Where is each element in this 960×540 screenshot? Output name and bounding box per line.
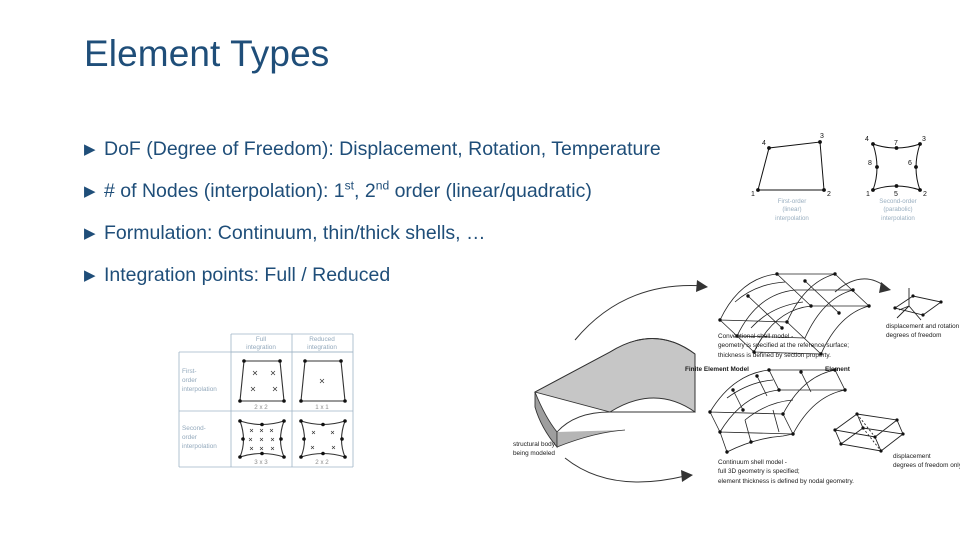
list-item: ▶ # of Nodes (interpolation): 1st, 2nd o… — [84, 180, 784, 222]
caption-second-order: Second-order (parabolic) interpolation — [858, 198, 938, 223]
first-order-quad-nodes — [756, 140, 826, 192]
arrow-to-continuum-mesh — [565, 458, 693, 482]
column-header-reduced-1: Reduced — [309, 336, 335, 343]
row-header-second-order-3: interpolation — [182, 443, 217, 450]
bullet-text-formulation: Formulation: Continuum, thin/thick shell… — [104, 222, 784, 245]
arrow-to-conventional-element — [835, 279, 891, 293]
header-finite-element-model: Finite Element Model — [685, 365, 749, 374]
triangle-bullet-icon: ▶ — [84, 226, 104, 241]
bullet-text-nodes: # of Nodes (interpolation): 1st, 2nd ord… — [104, 180, 784, 203]
column-header-full-1: Full — [256, 336, 266, 343]
scheme-label: 2 x 2 — [254, 404, 268, 411]
node-label: 5 — [894, 191, 898, 198]
integration-points-table: Full integration Reduced integration Fir… — [178, 333, 354, 473]
continuum-element-solid — [835, 414, 903, 451]
row-header-second-order-1: Second- — [182, 425, 206, 432]
shell-model-figure: structural body being modeled Finite Ele… — [505, 262, 957, 500]
label-structural-body: structural body being modeled — [513, 440, 613, 459]
row-header-first-order-1: First- — [182, 368, 197, 375]
label-continuum-dof: displacement degrees of freedom only — [893, 452, 960, 471]
caption-first-order: First-order (linear) interpolation — [754, 198, 830, 223]
element-interpolation-figure: 1 2 3 4 1 2 3 — [748, 126, 956, 222]
node-label: 2 — [827, 191, 831, 198]
cell-second-order-full: 3 x 3 — [238, 419, 286, 466]
cell-first-order-reduced: 1 x 1 — [299, 359, 347, 411]
header-element: Element — [825, 365, 850, 374]
cell-first-order-full: 2 x 2 — [238, 359, 286, 411]
row-header-first-order-2: order — [182, 377, 198, 384]
second-order-quad-outline — [873, 144, 920, 190]
triangle-bullet-icon: ▶ — [84, 184, 104, 199]
node-label: 3 — [922, 136, 926, 143]
triangle-bullet-icon: ▶ — [84, 142, 104, 157]
row-header-first-order-3: interpolation — [182, 386, 217, 393]
bullet-text-dof: DoF (Degree of Freedom): Displacement, R… — [104, 138, 784, 161]
node-label: 4 — [762, 140, 766, 147]
conventional-element-quad — [895, 288, 941, 320]
column-header-full-2: integration — [246, 344, 276, 351]
cell-second-order-reduced: 2 x 2 — [299, 419, 347, 466]
list-item: ▶ DoF (Degree of Freedom): Displacement,… — [84, 138, 784, 180]
continuum-shell-mesh — [710, 370, 845, 452]
structural-body-solid — [535, 338, 695, 447]
row-header-second-order-2: order — [182, 434, 198, 441]
node-label: 2 — [923, 191, 927, 198]
integration-table-svg: Full integration Reduced integration Fir… — [178, 333, 354, 473]
column-header-reduced-2: integration — [307, 344, 337, 351]
node-label: 3 — [820, 133, 824, 140]
triangle-bullet-icon: ▶ — [84, 268, 104, 283]
node-label: 7 — [894, 140, 898, 147]
node-label: 6 — [908, 160, 912, 167]
continuum-shell-nodes — [708, 368, 846, 453]
list-item: ▶ Formulation: Continuum, thin/thick she… — [84, 222, 784, 264]
label-conventional-dof: displacement and rotation degrees of fre… — [886, 322, 960, 341]
node-label: 4 — [865, 136, 869, 143]
node-label: 8 — [868, 160, 872, 167]
scheme-label: 1 x 1 — [315, 404, 329, 411]
second-order-quad-nodes — [871, 142, 922, 192]
slide-canvas: Element Types ▶ DoF (Degree of Freedom):… — [0, 0, 960, 540]
node-label: 1 — [866, 191, 870, 198]
arrow-to-conventional-mesh — [575, 280, 708, 340]
scheme-label: 2 x 2 — [315, 459, 329, 466]
node-label: 1 — [751, 191, 755, 198]
page-title: Element Types — [84, 33, 329, 75]
scheme-label: 3 x 3 — [254, 459, 268, 466]
